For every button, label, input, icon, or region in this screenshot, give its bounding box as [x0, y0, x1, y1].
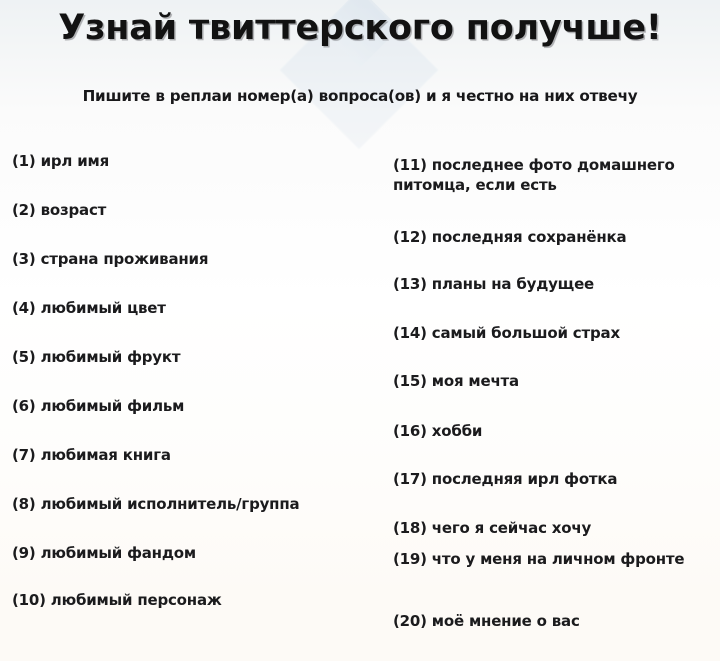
question-item-14: (14) самый большой страх	[393, 323, 620, 343]
question-item-16: (16) хобби	[393, 421, 482, 441]
question-item-19: (19) что у меня на личном фронте	[393, 549, 684, 569]
question-item-10: (10) любимый персонаж	[12, 590, 222, 610]
question-item-3: (3) страна проживания	[12, 249, 208, 269]
questions-left-column: (1) ирл имя (2) возраст (3) страна прожи…	[12, 0, 384, 661]
questionnaire-image: Узнай твиттерского получше! Пишите в реп…	[0, 0, 720, 661]
questions-right-column: (11) последнее фото домашнего питомца, е…	[393, 0, 720, 661]
question-item-20: (20) моё мнение о вас	[393, 611, 580, 631]
question-item-15: (15) моя мечта	[393, 371, 519, 391]
question-item-6: (6) любимый фильм	[12, 396, 184, 416]
question-item-11: (11) последнее фото домашнего питомца, е…	[393, 155, 720, 195]
question-item-12: (12) последняя сохранёнка	[393, 227, 626, 247]
question-item-1: (1) ирл имя	[12, 151, 109, 171]
question-item-4: (4) любимый цвет	[12, 298, 166, 318]
question-item-13: (13) планы на будущее	[393, 274, 594, 294]
question-item-5: (5) любимый фрукт	[12, 347, 180, 367]
question-item-2: (2) возраст	[12, 200, 106, 220]
question-item-7: (7) любимая книга	[12, 445, 171, 465]
question-item-9: (9) любимый фандом	[12, 543, 196, 563]
question-item-18: (18) чего я сейчас хочу	[393, 518, 591, 538]
question-item-8: (8) любимый исполнитель/группа	[12, 494, 299, 514]
question-item-17: (17) последняя ирл фотка	[393, 469, 617, 489]
